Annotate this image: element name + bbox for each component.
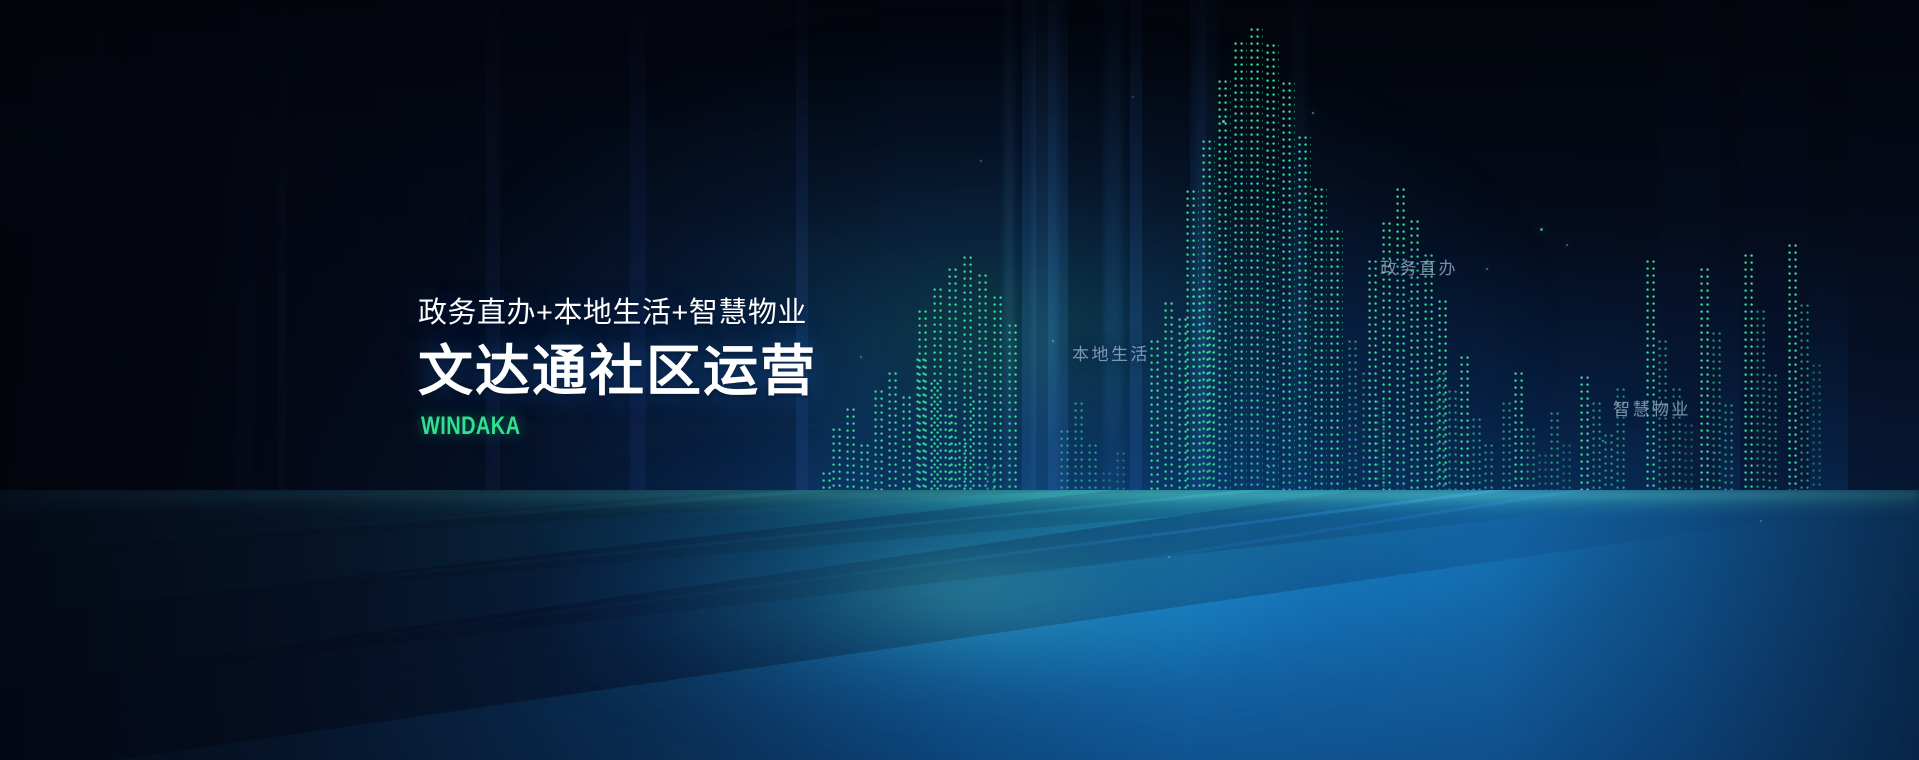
floating-label-2: 智慧物业 (1613, 395, 1691, 420)
ground-center-glow (559, 463, 1379, 723)
ground-right-shadow (1497, 490, 1919, 760)
floating-label-0: 政务直办 (1380, 254, 1458, 279)
banner-title: 文达通社区运营 (418, 340, 817, 402)
floating-label-1: 本地生活 (1072, 340, 1150, 365)
banner-subtitle: 政务直办+本地生活+智慧物业 (418, 294, 817, 332)
brand-wordmark: WINDAKA (421, 412, 738, 440)
hero-banner: 政务直办本地生活智慧物业 政务直办+本地生活+智慧物业 文达通社区运营 WIND… (0, 0, 1919, 760)
headline-block: 政务直办+本地生活+智慧物业 文达通社区运营 WINDAKA (418, 294, 817, 440)
